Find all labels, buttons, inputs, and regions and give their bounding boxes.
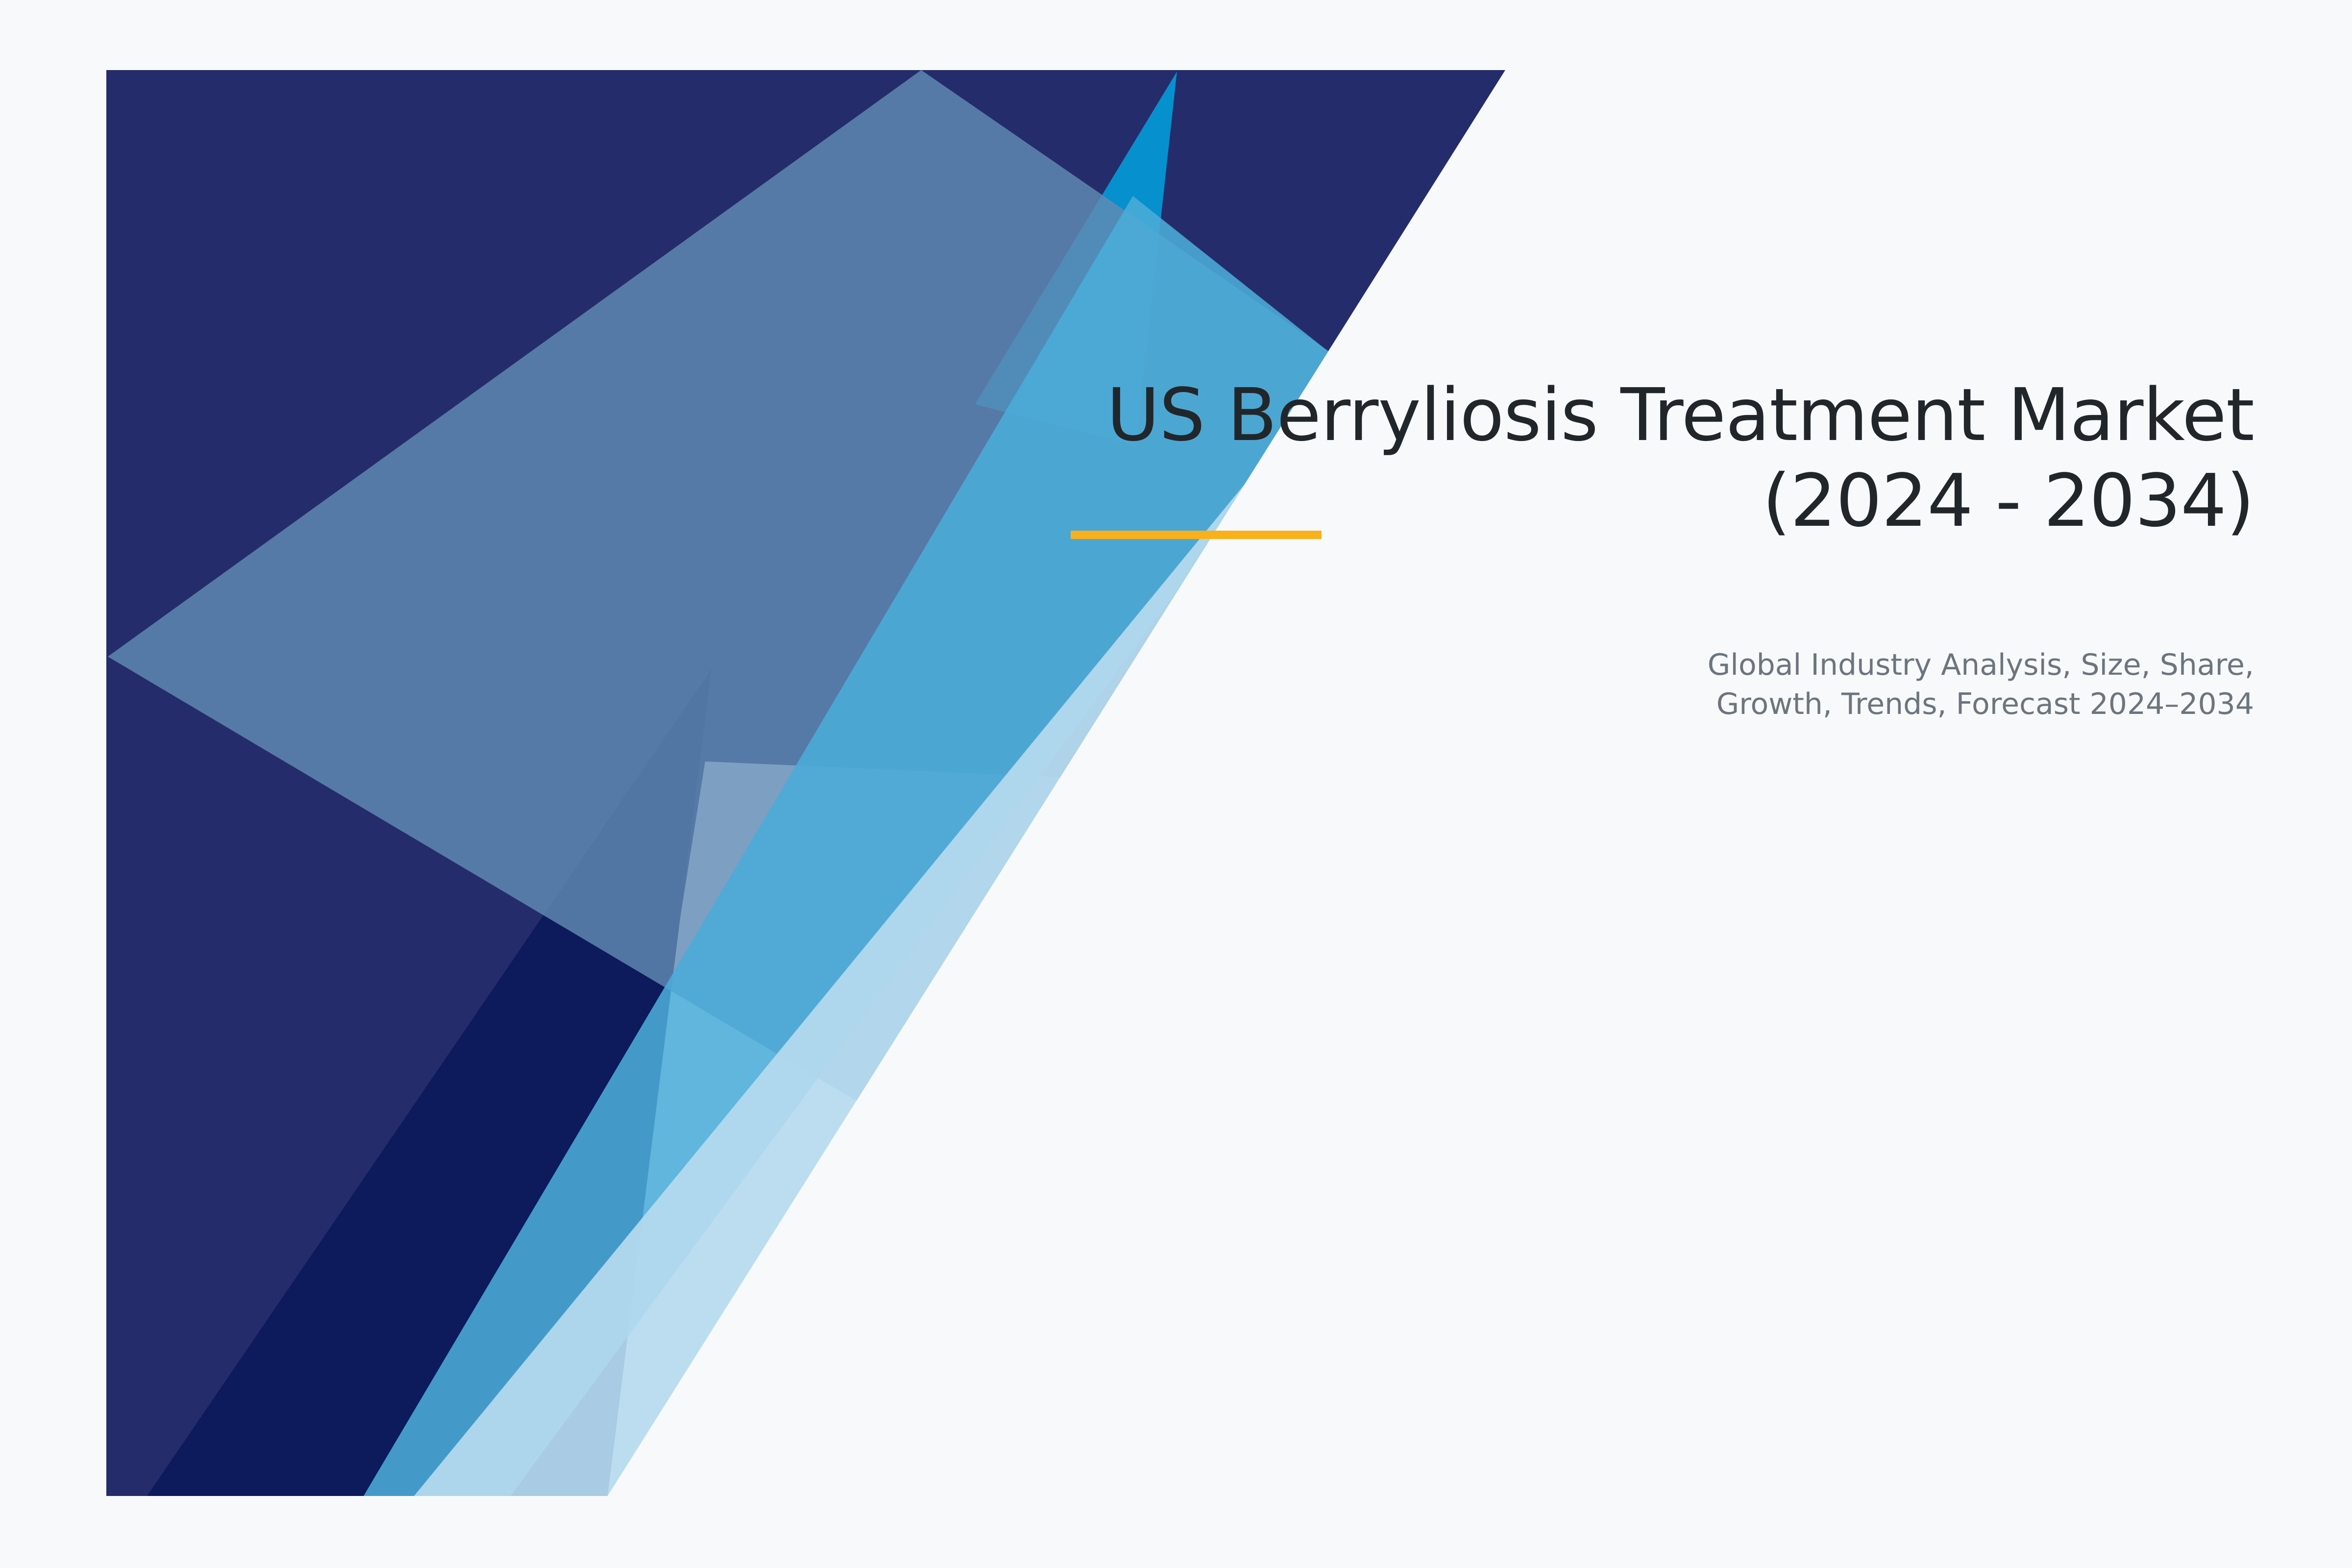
navy-left-wedge — [106, 588, 720, 1496]
slate-blue-large-polygon — [108, 70, 1352, 1107]
abstract-geometric-cover-art — [0, 0, 2352, 1568]
page-subtitle: Global Industry Analysis, Size, Share, G… — [931, 646, 2254, 724]
accent-underline — [1071, 531, 1322, 539]
cyan-top-left-triangle — [106, 70, 921, 507]
report-cover: US Berryliosis Treatment Market (2024 - … — [0, 0, 2352, 1568]
dark-navy-lower-left — [147, 669, 711, 1496]
page-title: US Berryliosis Treatment Market (2024 - … — [931, 372, 2254, 543]
title-block: US Berryliosis Treatment Market (2024 - … — [931, 372, 2254, 543]
